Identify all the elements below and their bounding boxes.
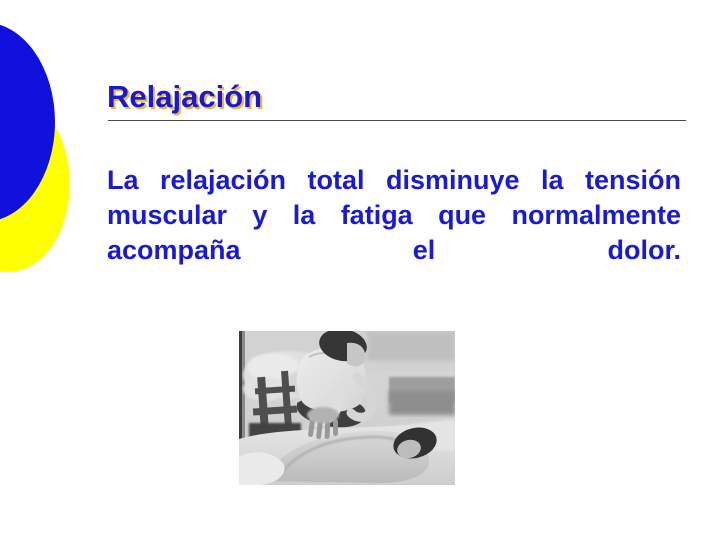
slide-canvas: Relajación La relajación total disminuye… [0,0,720,540]
body-paragraph: La relajación total disminuye la tensión… [107,163,681,303]
massage-photo [239,331,455,485]
title-underline-rule [108,120,686,121]
slide-title: Relajación [107,78,687,116]
massage-photo-graphic [239,331,455,485]
slide-body: La relajación total disminuye la tensión… [107,163,681,303]
slide-title-text: Relajación [107,79,262,114]
